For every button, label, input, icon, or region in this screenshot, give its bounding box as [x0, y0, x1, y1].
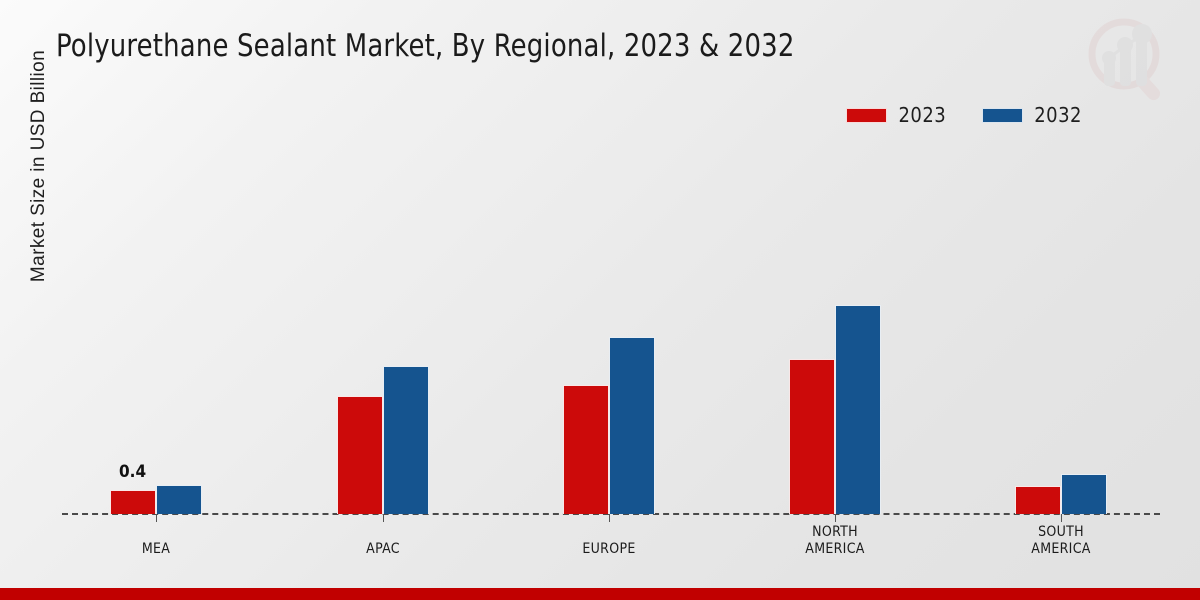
bottom-accent-strip: [0, 588, 1200, 600]
plot-area: 0.4 MEA APAC EUROPE: [0, 0, 1200, 600]
tick-apac: [383, 514, 384, 522]
bar-europe-2023[interactable]: [563, 385, 609, 514]
bar-apac-2023[interactable]: [337, 396, 383, 514]
tick-europe: [609, 514, 610, 522]
bar-mea-2032[interactable]: [156, 485, 202, 514]
tick-south-america: [1061, 514, 1062, 522]
category-label-north-america: NORTH AMERICA: [805, 524, 864, 558]
bar-north-america-2023[interactable]: [789, 359, 835, 514]
category-label-mea: MEA: [142, 541, 170, 558]
tick-mea: [156, 514, 157, 522]
category-label-apac: APAC: [366, 541, 400, 558]
bar-apac-2032[interactable]: [383, 366, 429, 514]
bar-south-america-2032[interactable]: [1061, 474, 1107, 514]
value-label-mea-2023: 0.4: [119, 462, 146, 482]
chart-infographic: Polyurethane Sealant Market, By Regional…: [0, 0, 1200, 600]
bar-south-america-2023[interactable]: [1015, 486, 1061, 514]
bars-mea: [110, 485, 202, 514]
bars-europe: [563, 337, 655, 514]
bar-north-america-2032[interactable]: [835, 305, 881, 514]
bar-mea-2023[interactable]: [110, 490, 156, 514]
tick-north-america: [835, 514, 836, 522]
bar-europe-2032[interactable]: [609, 337, 655, 514]
category-label-south-america: SOUTH AMERICA: [1031, 524, 1090, 558]
category-label-europe: EUROPE: [582, 541, 635, 558]
bars-south-america: [1015, 474, 1107, 514]
bars-apac: [337, 366, 429, 514]
bars-north-america: [789, 305, 881, 514]
